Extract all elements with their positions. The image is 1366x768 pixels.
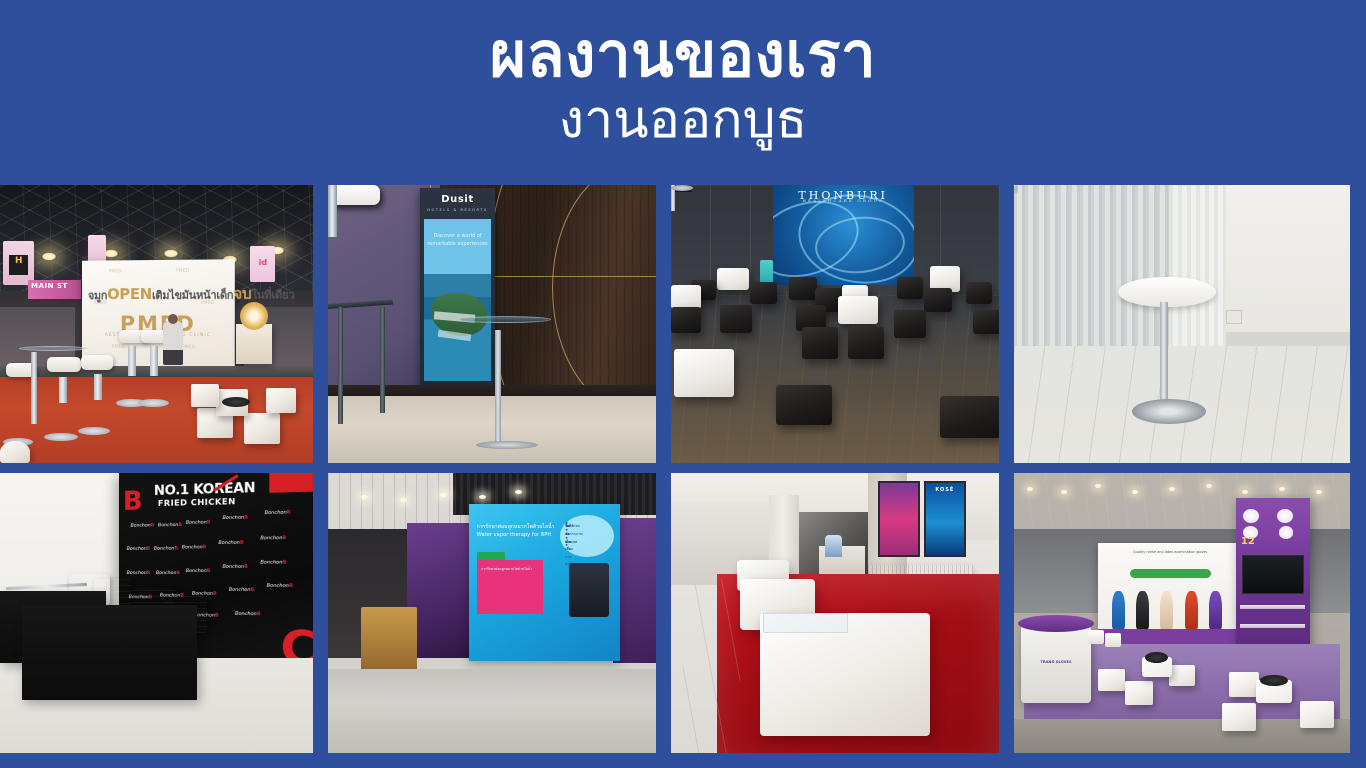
cube-ottoman [1300, 701, 1334, 728]
backdrop-logo-tile: BonchonB [130, 523, 154, 528]
cube-ottoman [191, 384, 219, 407]
backdrop-watermark: PMED [176, 267, 189, 272]
banner-letter: H [9, 255, 28, 275]
backdrop-watermark: PMED [183, 345, 196, 350]
booth-headline: จมูกOPENเติมไขมันหน้าเด็กจบในที่เดียว [88, 281, 229, 306]
booth-brand-tagline: HEALTHCARE GROUP [773, 198, 914, 203]
bar-stool-pole [150, 346, 158, 376]
glass-coffee-table [763, 613, 848, 633]
display-shelf [1240, 624, 1305, 628]
banner-logo: id [250, 258, 275, 267]
booth-backdrop-wall: Quality nitrile and latex examination gl… [1098, 543, 1242, 647]
cube-ottoman [266, 388, 296, 413]
backdrop-logo-tile: BonchonB [127, 547, 151, 552]
led-info-text: การรักษาต่อมลูกหมากโตด้วยไอน้ำ [481, 566, 539, 573]
led-info-panel: การรักษาต่อมลูกหมากโตด้วยไอน้ำ [477, 560, 543, 613]
hanging-banner: id [250, 246, 275, 282]
page-subtitle: งานออกบูธ [559, 91, 808, 149]
bar-stool-pole [59, 377, 67, 403]
banner-brand: Dusit [420, 194, 495, 205]
cube-ottoman [1169, 665, 1195, 686]
headline-mid: เติมไขมันหน้าเด็ก [152, 288, 233, 301]
backdrop-logo-tile: BonchonB [229, 587, 254, 592]
bar-stool-base [138, 399, 169, 407]
backdrop-headline: NO.1 KOREAN [154, 480, 255, 498]
bar-stool-pole [328, 185, 337, 237]
backdrop-logo-tile: BonchonB [260, 536, 286, 542]
lounge-photo-department-store[interactable]: KOSÉ [671, 473, 999, 753]
backdrop-logo-tile: BonchonB [260, 561, 286, 566]
bar-stool-seat [47, 357, 81, 372]
digital-ad-display-right: KOSÉ [924, 481, 967, 557]
round-bar-table-leg [1160, 302, 1168, 405]
certificate-badge [1243, 509, 1259, 523]
cube-ottoman [244, 413, 280, 444]
hanging-banner [88, 235, 107, 263]
gallery-item-8[interactable]: Quality nitrile and latex examination gl… [1014, 473, 1350, 758]
glove-graphic-purple [1209, 591, 1222, 629]
bar-stool-pole [94, 374, 102, 400]
counter-brand-label: TRANG GLOVES [1021, 659, 1092, 666]
backdrop-logo-tile: BonchonB [154, 547, 178, 552]
backdrop-logo-tile: BonchonB [222, 516, 247, 522]
white-bar-stool [1105, 633, 1121, 647]
marble-floor [328, 396, 656, 463]
wall-skirting [1226, 332, 1350, 346]
side-table-leg [338, 307, 343, 424]
booth-photo-bonchon[interactable]: B C NO.1 KOREAN FRIED CHICKEN BonchonB B… [0, 473, 313, 753]
person-seated [825, 535, 841, 557]
display-shelf [1240, 605, 1305, 609]
tower-number: 12 [1241, 536, 1255, 547]
led-title: การรักษาต่อมลูกหมากโตด้วยไอน้ำ Water vap… [477, 523, 555, 541]
hall-sign: MAIN ST [28, 280, 81, 299]
medical-device-graphic [569, 563, 610, 616]
booth-photo-thonburi[interactable]: THONBURI HEALTHCARE GROUP [671, 185, 999, 463]
led-bullet-list: ★ ไม่ใช้ยาและเลี่ยงการผ่าตัด ★ ฟื้นตัวเร… [565, 520, 568, 550]
tv-screen [1242, 555, 1304, 594]
backdrop-logo-tile: BonchonB [182, 545, 207, 550]
backdrop-logo-tile: BonchonB [218, 540, 243, 545]
backdrop-logo-tile: BonchonB [222, 565, 247, 570]
reception-counter: TRANG GLOVES [1021, 624, 1092, 702]
backdrop-logo-tile: BonchonB [186, 520, 211, 526]
backdrop-logo-tile: BonchonB [235, 612, 261, 618]
glove-graphic-black [1136, 591, 1149, 629]
cube-ottoman [1229, 672, 1259, 697]
gallery-item-4[interactable] [1014, 185, 1350, 473]
backdrop-logo-tile: BonchonB [186, 569, 211, 574]
booth-led-backdrop: THONBURI HEALTHCARE GROUP [773, 185, 914, 285]
backdrop-subheadline: FRIED CHICKEN [158, 497, 236, 508]
polished-floor [328, 669, 656, 753]
backdrop-logo-tile: BonchonB [127, 571, 151, 576]
gallery-item-7[interactable]: KOSÉ [671, 473, 1014, 758]
person-standing [163, 321, 183, 365]
hanging-banner: H [3, 241, 34, 285]
backdrop-watermark: PMED [109, 268, 122, 273]
backdrop-logo-tile: BonchonB [267, 583, 293, 588]
wall-right [1226, 185, 1350, 346]
round-bar-table-base [1132, 399, 1206, 424]
furniture-photo-bar-set[interactable] [1014, 185, 1350, 463]
table-leg [31, 352, 37, 424]
slide-page: ผลงานของเรา งานออกบูธ H id [0, 0, 1366, 768]
gallery-item-1[interactable]: H id MAIN ST PMED PMED PMED PMED PMED PM… [0, 185, 328, 473]
cube-ottoman [0, 441, 30, 463]
gallery-item-3[interactable]: THONBURI HEALTHCARE GROUP [671, 185, 1014, 473]
bar-stool-base [44, 433, 78, 441]
bar-stool-footring [1014, 185, 1018, 193]
backdrop-logo-tile: BonchonB [264, 510, 290, 516]
headline-open: OPEN [107, 285, 152, 303]
red-accent-block [269, 473, 313, 492]
banner-brand-tagline: HOTELS & RESORTS [420, 208, 495, 212]
display-podium [236, 324, 272, 364]
gallery-item-2[interactable]: Dusit HOTELS & RESORTS Discover a world … [328, 185, 671, 473]
certificate-badge [1277, 509, 1293, 523]
glove-graphic-blue [1112, 591, 1125, 629]
gallery-item-6[interactable]: การรักษาต่อมลูกหมากโตด้วยไอน้ำ Water vap… [328, 473, 671, 758]
booth-headline: Quality nitrile and latex examination gl… [1107, 550, 1234, 567]
booth-photo-pmed[interactable]: H id MAIN ST PMED PMED PMED PMED PMED PM… [0, 185, 313, 463]
side-table-leg [380, 307, 385, 413]
ad-brand-name: KOSÉ [926, 487, 965, 493]
booth-tv-tower: 12 [1236, 498, 1310, 655]
drum-table [1142, 657, 1172, 677]
sheer-curtain-left [1014, 185, 1169, 346]
draped-table [22, 605, 197, 700]
booth-badge-bar [1130, 569, 1211, 578]
purple-panel-left [407, 523, 473, 657]
backdrop-letter-b: B [123, 486, 143, 517]
ceiling-lamp-icon [163, 249, 179, 258]
bar-stool-base [671, 185, 693, 191]
wall-socket [1226, 310, 1243, 324]
page-header: ผลงานของเรา งานออกบูธ [0, 0, 1366, 185]
cube-ottoman [1098, 669, 1125, 691]
drum-table [1256, 680, 1292, 703]
led-speech-bubble: ★ ไม่ใช้ยาและเลี่ยงการผ่าตัด ★ ฟื้นตัวเร… [560, 515, 614, 557]
gallery-item-5[interactable]: B C NO.1 KOREAN FRIED CHICKEN BonchonB B… [0, 473, 328, 758]
page-title: ผลงานของเรา [490, 22, 877, 89]
photo-gallery: H id MAIN ST PMED PMED PMED PMED PMED PM… [0, 185, 1366, 768]
ceiling-lamp-icon [41, 252, 57, 261]
booth-photo-dusit[interactable]: Dusit HOTELS & RESORTS Discover a world … [328, 185, 656, 463]
booth-photo-trang-gloves[interactable]: Quality nitrile and latex examination gl… [1014, 473, 1350, 753]
headline-post: ในที่เดียว [252, 288, 295, 301]
headline-jb: จบ [234, 284, 252, 302]
glove-graphic-orange [1185, 591, 1198, 629]
cube-ottoman [1125, 681, 1153, 705]
glove-graphic-clear [1160, 591, 1173, 629]
backdrop-watermark: PMED [112, 344, 125, 349]
led-screen: การรักษาต่อมลูกหมากโตด้วยไอน้ำ Water vap… [469, 504, 620, 661]
digital-ad-display-left [878, 481, 921, 557]
cube-ottoman [1222, 703, 1256, 731]
banner-tagline: Discover a world of remarkable experienc… [424, 233, 490, 248]
certificate-badge [1279, 526, 1294, 539]
event-photo-hospital-stage[interactable]: การรักษาต่อมลูกหมากโตด้วยไอน้ำ Water vap… [328, 473, 656, 753]
bar-stool-pole [128, 346, 136, 376]
bar-stool-seat [81, 355, 113, 370]
white-bar-stool [1088, 630, 1104, 644]
backdrop-logo-tile: BonchonB [156, 571, 180, 576]
sheer-curtain-right [1169, 185, 1226, 346]
glass-bar-table-top [459, 316, 551, 323]
rollup-banner: Dusit HOTELS & RESORTS Discover a world … [420, 188, 495, 394]
backdrop-logo-tile: BonchonB [158, 523, 182, 529]
headline-pre: จมูก [88, 289, 107, 302]
glass-bar-table-leg [495, 330, 501, 447]
